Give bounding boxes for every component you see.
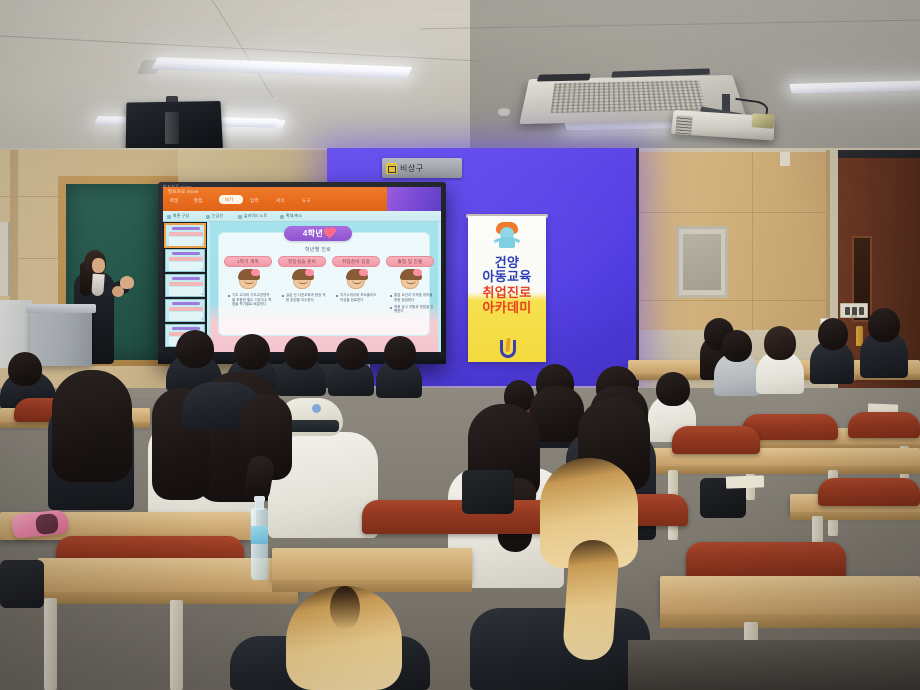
projector-vent	[675, 115, 692, 134]
student-head	[656, 372, 690, 406]
slide-column-heading: 취업준비 집중	[342, 259, 370, 265]
heart-icon	[325, 229, 335, 239]
slide-bullet-list: 자기소개서와 포트폴리오 작성을 완료한다	[332, 293, 380, 302]
slide-column-heading: 1학기 계획	[237, 259, 259, 265]
toolbar-icon[interactable]	[280, 215, 284, 219]
bullet-dot-icon	[390, 307, 392, 309]
bullet-dot-icon	[390, 295, 392, 297]
student-head	[336, 338, 368, 370]
thumb-title-bar	[172, 277, 200, 280]
black-backpack	[462, 470, 514, 514]
slide-column-heading: 현장실습 준비	[288, 259, 316, 265]
tab-file[interactable]: 파일	[170, 198, 179, 204]
chair-back	[672, 426, 760, 454]
presenter-collar	[91, 274, 105, 297]
toolbar-icon[interactable]	[206, 215, 210, 219]
avatar-badge-icon	[359, 269, 368, 276]
thumb-title-bar	[172, 302, 200, 305]
cap-logo-icon	[312, 404, 321, 413]
toolbar-item-notes[interactable]: 슬라이드 노트	[244, 214, 267, 219]
thumb-number: 2	[202, 268, 203, 271]
banner-line-4: 아카데미	[468, 297, 546, 316]
slide-column-heading-pill: 현장실습 준비	[278, 256, 326, 267]
toolbar-icon[interactable]	[238, 215, 242, 219]
presenter-hand	[112, 286, 124, 297]
toolbar-item-zoom[interactable]: 확대/축소	[286, 214, 302, 219]
slide-bullet: 기초 교과와 기초교양영역을 포함한 필수 기본이수 학점을 학기별로 배분한다	[228, 293, 272, 307]
chair-back	[848, 412, 920, 438]
slide-column: 1학기 계획 기초 교과와 기초교양영역을 포함한 필수 기본이수 학점을 학기…	[224, 256, 272, 309]
mascot-body	[499, 237, 515, 248]
chair-back	[686, 542, 846, 578]
student-avatar-icon	[347, 271, 365, 289]
emergency-exit-sign: 비상구	[382, 158, 462, 178]
bag-dark-panel	[35, 513, 59, 535]
student-blonde-ponytail	[562, 538, 620, 661]
air-conditioner-grill	[551, 80, 707, 113]
app-title-bar: 발표자료.show	[168, 189, 198, 195]
thumb-body	[169, 262, 203, 271]
slide-column-heading: 졸업 및 진출	[397, 259, 422, 265]
student-body	[470, 608, 650, 690]
desk-edge	[38, 592, 298, 604]
tab-tools[interactable]: 도구	[302, 198, 311, 204]
wall-notice-board	[0, 222, 10, 296]
panel-seam	[636, 212, 826, 213]
thumb-row	[169, 257, 203, 261]
toolbar-item-layout[interactable]: 화면 구성	[173, 214, 189, 219]
chair-back	[362, 500, 558, 534]
student-avatar-icon	[293, 271, 311, 289]
student-head	[384, 336, 416, 370]
slide-thumbnail[interactable]: 3	[165, 274, 205, 297]
exit-door-icon	[386, 163, 397, 174]
thumb-number: 4	[202, 318, 203, 321]
light-switch-label: 조명	[840, 314, 868, 319]
wall-picture-image	[683, 234, 721, 290]
slide-subtitle: 학년별 진로	[280, 246, 356, 253]
paper-handout	[726, 475, 764, 488]
slide-thumbnail[interactable]: 4	[165, 299, 205, 322]
presenter-face	[92, 258, 105, 273]
student-head	[868, 308, 900, 342]
panel-seam	[636, 300, 826, 301]
thumb-body	[169, 237, 203, 246]
air-conditioner-vent	[537, 74, 591, 82]
student-head	[234, 334, 270, 370]
student-avatar-icon	[239, 271, 257, 289]
hair-roots	[330, 586, 360, 630]
slide-thumbnail[interactable]: 2	[165, 249, 205, 272]
floor-foreground	[628, 640, 920, 690]
tab-view[interactable]: 보기	[225, 197, 233, 203]
projection-screen-edge	[636, 148, 639, 386]
student-head	[284, 336, 318, 370]
slide-bullet: 자기소개서와 포트폴리오 작성을 완료한다	[336, 293, 380, 302]
slide-column-heading-pill: 1학기 계획	[224, 256, 272, 267]
slide-bullet: 실습 전 사전교육과 현장 적응 훈련을 이수한다	[282, 293, 326, 302]
student-head	[764, 326, 796, 360]
konyang-u-logo	[500, 340, 516, 360]
lectern	[30, 308, 92, 366]
konyang-mascot-icon	[496, 222, 518, 248]
tab-format[interactable]: 서식	[276, 198, 285, 204]
student-head	[8, 352, 42, 386]
slide-thumbnail[interactable]: 1	[165, 224, 205, 247]
desk-leg	[170, 600, 183, 690]
slide-bullet: 졸업 요건과 자격증 취득을 최종 점검한다	[390, 293, 434, 302]
slide-title: 4학년	[303, 228, 323, 239]
monitor-mount-neck	[165, 112, 179, 144]
thumb-body	[169, 287, 203, 296]
water-bottle	[251, 508, 268, 580]
desk-edge	[660, 614, 920, 628]
bottle-label	[251, 526, 268, 544]
slide-column-heading-pill: 졸업 및 진출	[386, 256, 434, 267]
slide-column: 졸업 및 진출 졸업 요건과 자격증 취득을 최종 점검한다 채용 공고 지원과…	[386, 256, 434, 316]
slide-column: 현장실습 준비 실습 전 사전교육과 현장 적응 훈련을 이수한다	[278, 256, 326, 305]
exit-sign-label: 비상구	[400, 163, 424, 174]
bottle-cap	[254, 496, 265, 502]
thumb-row	[169, 232, 203, 236]
lectern-top	[26, 304, 96, 313]
slide-title-pill: 4학년	[284, 226, 352, 241]
bullet-dot-icon	[282, 295, 284, 297]
student-head	[818, 318, 848, 350]
slide-bullet-list: 실습 전 사전교육과 현장 적응 훈련을 이수한다	[278, 293, 326, 302]
toolbar-icon[interactable]	[167, 215, 171, 219]
thumb-row	[169, 307, 203, 311]
thumb-number: 1	[202, 243, 203, 246]
desk-edge	[272, 580, 472, 592]
desk-leg	[44, 598, 57, 690]
tab-edit[interactable]: 편집	[194, 198, 203, 204]
student-avatar-icon	[401, 271, 419, 289]
thumb-row	[169, 282, 203, 286]
slide-bullet: 채용 공고 지원과 면접을 진행한다	[390, 305, 434, 314]
thumb-number: 3	[202, 293, 203, 296]
desk-edge	[790, 512, 920, 520]
ribbon-gradient-corner	[387, 187, 441, 211]
student-head	[176, 330, 214, 368]
smoke-detector	[498, 108, 510, 116]
avatar-badge-icon	[251, 269, 260, 276]
toolbar-item-gridlines[interactable]: 눈금선	[212, 214, 223, 219]
bullet-dot-icon	[336, 295, 338, 297]
thumb-body	[169, 312, 203, 321]
wall-junction-box	[780, 152, 790, 166]
avatar-badge-icon	[413, 269, 422, 276]
black-backpack	[0, 560, 44, 608]
thumb-title-bar	[172, 252, 200, 255]
projector-lens	[752, 113, 775, 129]
student-long-hair	[52, 370, 132, 482]
bullet-dot-icon	[228, 295, 230, 297]
desk	[272, 548, 472, 582]
lecture-hall-photo: 비상구 조명 발표자료.show 발표자료.show 파일 편집 보기 입력 서…	[0, 0, 920, 690]
slide-column: 취업준비 집중 자기소개서와 포트폴리오 작성을 완료한다	[332, 256, 380, 305]
slide-bullet-list: 졸업 요건과 자격증 취득을 최종 점검한다 채용 공고 지원과 면접을 진행한…	[386, 293, 434, 314]
avatar-badge-icon	[305, 269, 314, 276]
slide-bullet-list: 기초 교과와 기초교양영역을 포함한 필수 기본이수 학점을 학기별로 배분한다	[224, 293, 272, 307]
slide-column-heading-pill: 취업준비 집중	[332, 256, 380, 267]
chair-back	[818, 478, 920, 506]
desk	[660, 576, 920, 616]
fluorescent-tube-light	[216, 117, 279, 127]
student-head	[722, 330, 752, 362]
tab-insert[interactable]: 입력	[250, 198, 259, 204]
thumb-title-bar	[172, 227, 200, 230]
